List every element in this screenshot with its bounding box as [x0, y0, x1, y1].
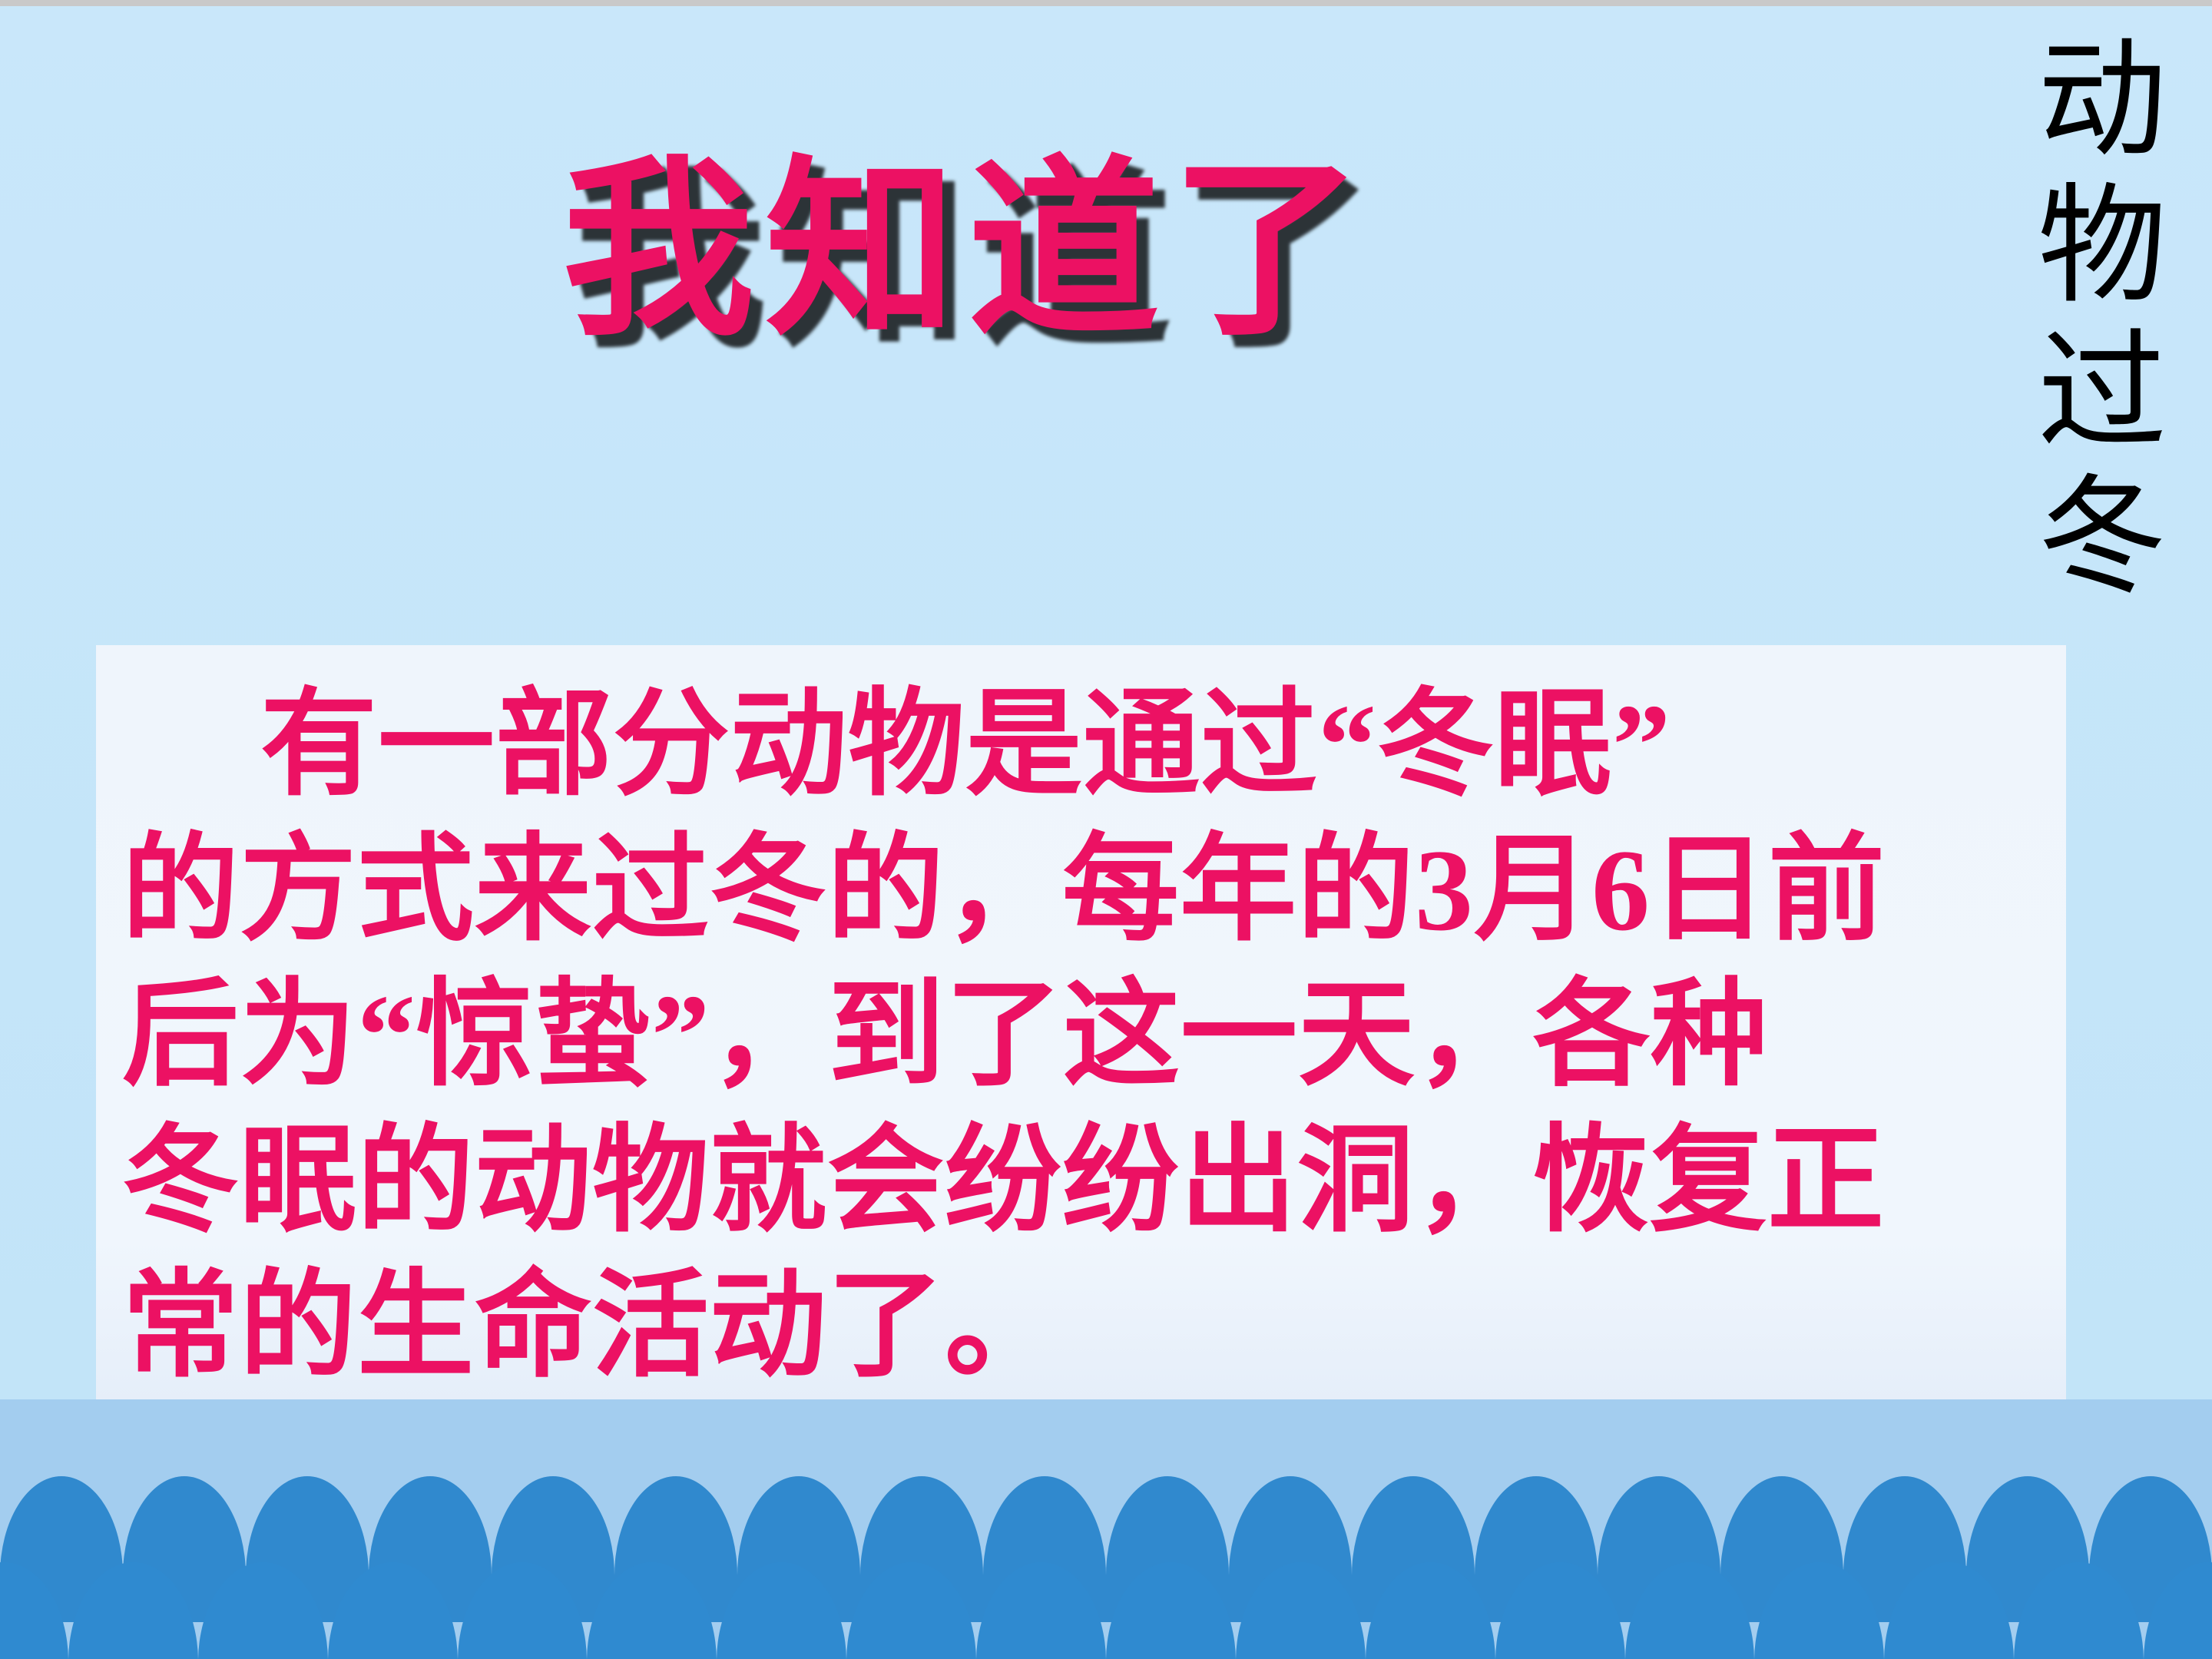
body-line-4: 冬眠的动物就会纷纷出洞，恢复正 — [122, 1109, 2040, 1254]
body-line-1: 有一部分动物是通过“冬眠” — [122, 673, 2040, 818]
vertical-side-title: 动 物 过 冬 — [2029, 29, 2175, 612]
arch-shape — [1884, 1562, 2014, 1659]
arch-shape — [587, 1562, 717, 1659]
side-title-char-3: 过 — [2029, 321, 2175, 467]
arch-shape — [846, 1562, 976, 1659]
body-line-5: 常的生命活动了。 — [122, 1254, 2040, 1399]
body-line-3: 后为“惊蛰”，到了这一天，各种 — [122, 963, 2040, 1108]
arch-shape — [1106, 1562, 1236, 1659]
side-title-char-2: 物 — [2029, 175, 2175, 321]
side-title-char-4: 冬 — [2029, 466, 2175, 612]
arch-row-front — [0, 1562, 2212, 1659]
arch-shape — [458, 1562, 588, 1659]
arch-shape — [1495, 1562, 1625, 1659]
arch-shape — [68, 1562, 198, 1659]
body-text-block: 有一部分动物是通过“冬眠” 的方式来过冬的，每年的3月6日前 后为“惊蛰”，到了… — [122, 673, 2040, 1399]
arch-shape — [1366, 1562, 1495, 1659]
arch-shape — [0, 1562, 68, 1659]
arch-shape — [717, 1562, 846, 1659]
content-panel: 有一部分动物是通过“冬眠” 的方式来过冬的，每年的3月6日前 后为“惊蛰”，到了… — [96, 645, 2066, 1406]
arch-shape — [1236, 1562, 1366, 1659]
arch-shape — [2144, 1562, 2212, 1659]
body-line-2: 的方式来过冬的，每年的3月6日前 — [122, 818, 2040, 963]
page-title: 我知道了 — [0, 152, 1936, 354]
arch-shape — [2014, 1562, 2144, 1659]
bottom-decoration-band — [0, 1399, 2212, 1659]
arch-shape — [1754, 1562, 1884, 1659]
side-title-char-1: 动 — [2029, 29, 2175, 175]
arch-shape — [976, 1562, 1106, 1659]
arch-shape — [1625, 1562, 1755, 1659]
arch-shape — [198, 1562, 328, 1659]
arch-shape — [328, 1562, 458, 1659]
slide-canvas: 我知道了 动 物 过 冬 有一部分动物是通过“冬眠” 的方式来过冬的，每年的3月… — [0, 0, 2212, 1659]
